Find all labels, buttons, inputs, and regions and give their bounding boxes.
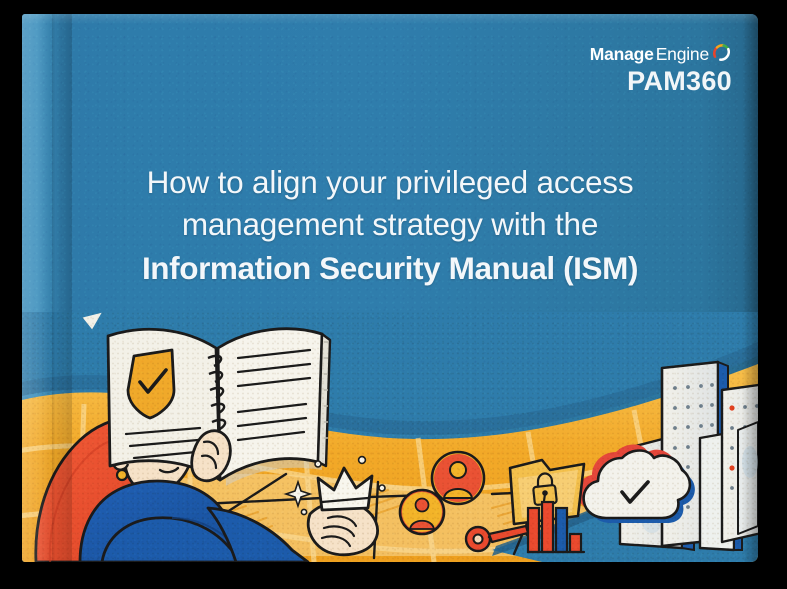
user-avatar-small: [400, 490, 444, 534]
book-right-edge: [742, 14, 758, 562]
book-top-edge: [22, 14, 758, 24]
product-name: PAM360: [590, 68, 732, 95]
shield-check-badge: [128, 350, 174, 418]
book-spine: [22, 14, 72, 562]
title-line-1: How to align your privileged access: [76, 162, 704, 204]
ebook-cover[interactable]: How to align your privileged access mana…: [22, 14, 758, 562]
spine-groove: [52, 14, 55, 562]
manageengine-logo: ManageEngine PAM360: [590, 42, 732, 95]
user-avatar-large: [432, 452, 484, 504]
cover-title-block: How to align your privileged access mana…: [22, 162, 758, 290]
title-line-2: management strategy with the: [76, 204, 704, 246]
manageengine-swoosh-icon: [712, 42, 732, 62]
title-line-3: Information Security Manual (ISM): [76, 248, 704, 290]
brand-name-manage: Manage: [590, 46, 654, 64]
cover-illustration: [22, 312, 758, 562]
cover-stage: How to align your privileged access mana…: [0, 0, 787, 589]
brand-name-engine: Engine: [656, 46, 709, 64]
